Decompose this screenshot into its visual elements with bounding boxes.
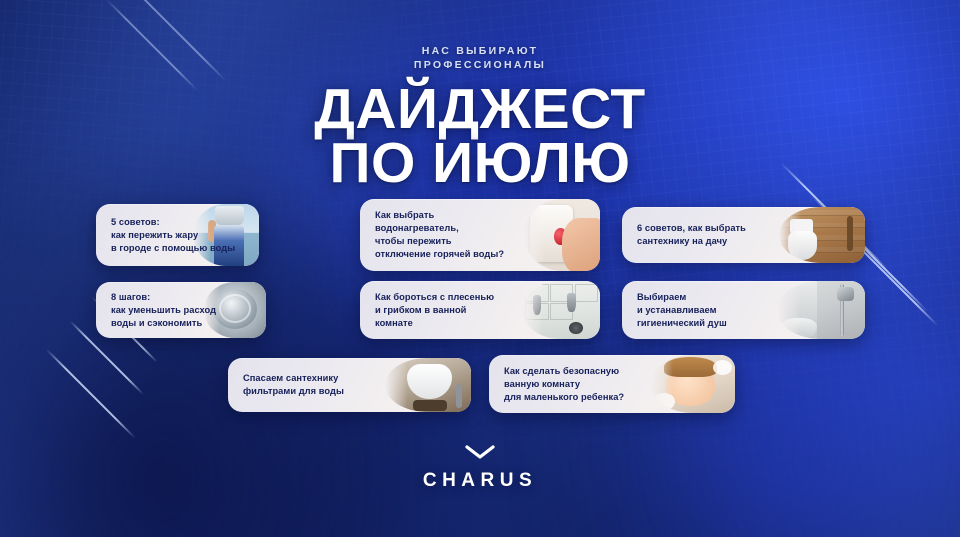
- brand-logo: CHARUS: [0, 445, 960, 491]
- card-thumbnail: [777, 281, 865, 339]
- card-title: Как сделать безопасную ванную комнату дл…: [489, 365, 630, 404]
- chevron-down-icon: [465, 445, 495, 459]
- digest-card[interactable]: 8 шагов: как уменьшить расход воды и сэк…: [96, 282, 266, 338]
- digest-card[interactable]: 6 советов, как выбрать сантехнику на дач…: [622, 207, 865, 263]
- kicker-text: НАС ВЫБИРАЮТ ПРОФЕССИОНАЛЫ: [0, 44, 960, 72]
- digest-card[interactable]: Как сделать безопасную ванную комнату дл…: [489, 355, 735, 413]
- digest-card[interactable]: Как бороться с плесенью и грибком в ванн…: [360, 281, 600, 339]
- card-thumbnail: [385, 358, 471, 412]
- kicker-line-2: ПРОФЕССИОНАЛЫ: [0, 58, 960, 72]
- digest-card[interactable]: Как выбрать водонагреватель, чтобы переж…: [360, 199, 600, 271]
- card-thumbnail: [522, 281, 600, 339]
- digest-card[interactable]: Спасаем сантехнику фильтрами для воды: [228, 358, 471, 412]
- card-title: 6 советов, как выбрать сантехнику на дач…: [622, 222, 752, 248]
- digest-card[interactable]: Выбираем и устанавливаем гигиенический д…: [622, 281, 865, 339]
- digest-card[interactable]: 5 советов: как пережить жару в городе с …: [96, 204, 259, 266]
- card-title: 8 шагов: как уменьшить расход воды и сэк…: [96, 291, 222, 330]
- card-thumbnail: [524, 199, 600, 271]
- decorative-streaks-bottom-left: [46, 296, 47, 297]
- title-line-2: ПО ИЮЛЮ: [0, 138, 960, 188]
- card-title: Спасаем сантехнику фильтрами для воды: [228, 372, 350, 398]
- page-title: ДАЙДЖЕСТ ПО ИЮЛЮ: [0, 84, 960, 188]
- card-title: 5 советов: как пережить жару в городе с …: [96, 216, 241, 255]
- brand-logo-text: CHARUS: [0, 471, 960, 491]
- digest-poster: НАС ВЫБИРАЮТ ПРОФЕССИОНАЛЫ ДАЙДЖЕСТ ПО И…: [0, 0, 960, 537]
- card-title: Как выбрать водонагреватель, чтобы переж…: [360, 209, 510, 261]
- card-thumbnail: [779, 207, 865, 263]
- kicker-line-1: НАС ВЫБИРАЮТ: [0, 44, 960, 58]
- card-thumbnail: [651, 355, 735, 413]
- card-title: Выбираем и устанавливаем гигиенический д…: [622, 291, 733, 330]
- card-title: Как бороться с плесенью и грибком в ванн…: [360, 291, 500, 330]
